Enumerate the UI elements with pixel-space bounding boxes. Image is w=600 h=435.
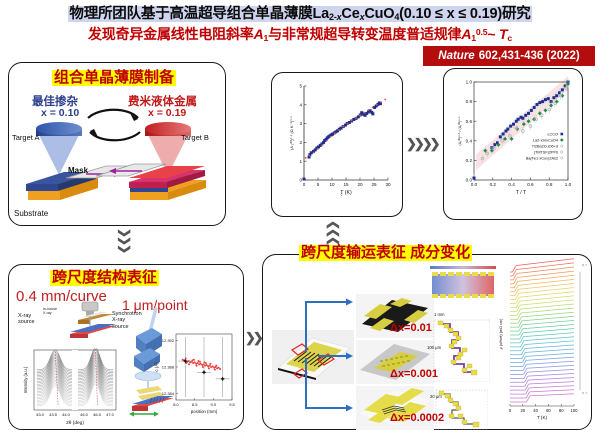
chart-a1-vs-tc: 051015202530012345T (K)c(A ₁²ᴰ)⁰·⁵ (Ω K⁻… xyxy=(288,80,392,204)
label-substrate: Substrate xyxy=(14,209,48,218)
svg-text:1.0: 1.0 xyxy=(466,80,473,85)
svg-text:4: 4 xyxy=(299,102,302,107)
svg-text:40: 40 xyxy=(533,408,538,413)
svg-text:47.0: 47.0 xyxy=(106,412,115,417)
svg-text:(A ₁²ᴰ)⁰·⁵ (Ω K⁻¹)⁰·⁵: (A ₁²ᴰ)⁰·⁵ (Ω K⁻¹)⁰·⁵ xyxy=(289,116,294,150)
svg-text:Intensity (a.u.): Intensity (a.u.) xyxy=(23,366,28,393)
svg-text:T / T: T / T xyxy=(516,190,527,196)
label-inhouse-xray: In-house X-ray xyxy=(43,308,57,316)
connector-arrows-icon xyxy=(288,296,358,416)
heading-film-growth: 组合单晶薄膜制备 xyxy=(52,70,176,86)
chevron-down-icon-left: ❯❯❯ xyxy=(118,228,132,252)
svg-text:2θ (deg): 2θ (deg) xyxy=(66,420,84,426)
svg-text:ρ (offset) (mΩ cm): ρ (offset) (mΩ cm) xyxy=(499,318,503,349)
label-xray-source: X-ray source xyxy=(18,313,35,326)
svg-text:x = 0.19: x = 0.19 xyxy=(582,262,588,267)
svg-text:46.5: 46.5 xyxy=(93,412,102,417)
svg-text:0.4: 0.4 xyxy=(508,182,515,187)
svg-text:25: 25 xyxy=(371,182,377,187)
svg-text:20: 20 xyxy=(520,408,525,413)
label-scale-1mm: 1 mm xyxy=(434,312,444,317)
svg-text:(A₁²ᴰ)⁰·⁵ / (A₁²ᴰ)⁰·⁵: (A₁²ᴰ)⁰·⁵ / (A₁²ᴰ)⁰·⁵ xyxy=(458,116,462,145)
svg-text:0.6: 0.6 xyxy=(527,182,534,187)
svg-text:0: 0 xyxy=(303,182,306,187)
svg-text:0.2: 0.2 xyxy=(466,158,473,163)
inhouse-xray-apparatus-icon xyxy=(60,300,120,348)
svg-text:46.0: 46.0 xyxy=(80,412,89,417)
svg-text:0.4: 0.4 xyxy=(466,138,473,143)
composition-gradient-strip xyxy=(428,264,498,306)
svg-text:5: 5 xyxy=(299,84,302,89)
svg-text:80: 80 xyxy=(559,408,564,413)
svg-text:T (K): T (K) xyxy=(537,415,548,420)
heading-transport-characterization: 跨尺度输运表征 成分变化 xyxy=(299,245,472,261)
svg-text:1.0: 1.0 xyxy=(565,182,572,187)
label-target-b: Target B xyxy=(181,133,209,142)
chevron-down-icon-right: ❯❯❯ xyxy=(325,222,339,246)
svg-text:2: 2 xyxy=(299,140,302,145)
svg-text:12.384: 12.384 xyxy=(162,391,175,396)
svg-text:12.392: 12.392 xyxy=(162,338,175,343)
heading-structural-characterization: 跨尺度结构表征 xyxy=(50,270,159,286)
svg-text:(TMTSF)2PF6: (TMTSF)2PF6 xyxy=(534,151,558,155)
svg-text:15: 15 xyxy=(343,182,349,187)
svg-text:Tl2Ba2CuO6+d: Tl2Ba2CuO6+d xyxy=(532,145,558,149)
svg-text:0.0: 0.0 xyxy=(466,178,473,183)
svg-text:8.5: 8.5 xyxy=(192,402,198,407)
meander-chain-100um xyxy=(432,318,490,382)
svg-text:5: 5 xyxy=(317,182,320,187)
citation-journal: Nature xyxy=(438,50,474,62)
meander-chain-20um xyxy=(434,388,488,430)
svg-text:8.0: 8.0 xyxy=(173,402,179,407)
label-scale-20um: 20 μm xyxy=(430,394,442,399)
svg-text:c: c xyxy=(341,193,343,197)
svg-text:12.388: 12.388 xyxy=(162,364,175,369)
label-optimal-doping-x: x = 0.10 xyxy=(41,107,79,119)
svg-text:c (Å): c (Å) xyxy=(154,362,159,372)
target-a-top xyxy=(36,122,82,135)
svg-text:LCCO: LCCO xyxy=(547,133,558,137)
svg-text:9.5: 9.5 xyxy=(229,402,235,407)
svg-text:100: 100 xyxy=(571,408,579,413)
svg-text:9.0: 9.0 xyxy=(211,402,217,407)
svg-text:30: 30 xyxy=(385,182,391,187)
label-scale-100um: 100 μm xyxy=(427,345,441,350)
svg-text:43.5: 43.5 xyxy=(49,412,58,417)
svg-text:position (mm): position (mm) xyxy=(191,409,218,414)
svg-text:0.2: 0.2 xyxy=(490,182,497,187)
svg-text:43.0: 43.0 xyxy=(36,412,45,417)
svg-text:0: 0 xyxy=(299,178,302,183)
label-delta-x-2: Δx=0.001 xyxy=(390,368,438,380)
svg-text:1: 1 xyxy=(299,159,302,164)
label-fermi-liquid-x: x = 0.19 xyxy=(148,107,186,119)
chart-resistivity-waterfall: 020406080100T (K)ρ (offset) (mΩ cm)x = 0… xyxy=(496,258,588,426)
svg-text:20: 20 xyxy=(357,182,363,187)
svg-text:10: 10 xyxy=(329,182,335,187)
label-delta-x-1: Δx=0.01 xyxy=(390,322,432,334)
svg-text:0.8: 0.8 xyxy=(546,182,553,187)
svg-text:0.6: 0.6 xyxy=(466,119,473,124)
svg-text:0.8: 0.8 xyxy=(466,99,473,104)
svg-text:La2-xSrxCuO4: La2-xSrxCuO4 xyxy=(533,139,558,143)
svg-text:x = 0.10: x = 0.10 xyxy=(582,390,588,395)
svg-text:Ba(Fe1-xCox)2As2: Ba(Fe1-xCox)2As2 xyxy=(526,157,558,161)
label-target-a: Target A xyxy=(12,133,40,142)
exchange-arrows-icon xyxy=(84,108,144,142)
svg-text:3: 3 xyxy=(299,121,302,126)
citation-badge: Nature 602,431-436 (2022) xyxy=(423,46,595,66)
chart-universal-scaling: 0.00.20.40.60.81.00.00.20.40.60.81.0T / … xyxy=(452,74,576,214)
citation-details: 602,431-436 (2022) xyxy=(479,50,580,62)
page-title-line1: 物理所团队基于高温超导组合单晶薄膜La2-xCexCuO4(0.10 ≤ x ≤… xyxy=(0,2,600,23)
chevron-right-icon-top: ❯❯❯❯ xyxy=(406,136,438,152)
svg-text:60: 60 xyxy=(546,408,551,413)
poster-root: 物理所团队基于高温超导组合单晶薄膜La2-xCexCuO4(0.10 ≤ x ≤… xyxy=(0,0,600,435)
page-title-line2: 发现奇异金属线性电阻斜率A1与非常规超导转变温度普适规律A10.5~ Tc xyxy=(0,24,600,44)
label-mask: Mask xyxy=(68,166,88,175)
chart-xrd-waterfall: 43.043.544.046.046.547.02θ (deg)Intensit… xyxy=(22,348,118,428)
svg-text:0.0: 0.0 xyxy=(471,182,478,187)
svg-text:0: 0 xyxy=(509,408,512,413)
svg-text:44.0: 44.0 xyxy=(62,412,71,417)
chart-c-axis-vs-position: 8.08.59.09.512.38412.38812.392position (… xyxy=(150,328,238,422)
